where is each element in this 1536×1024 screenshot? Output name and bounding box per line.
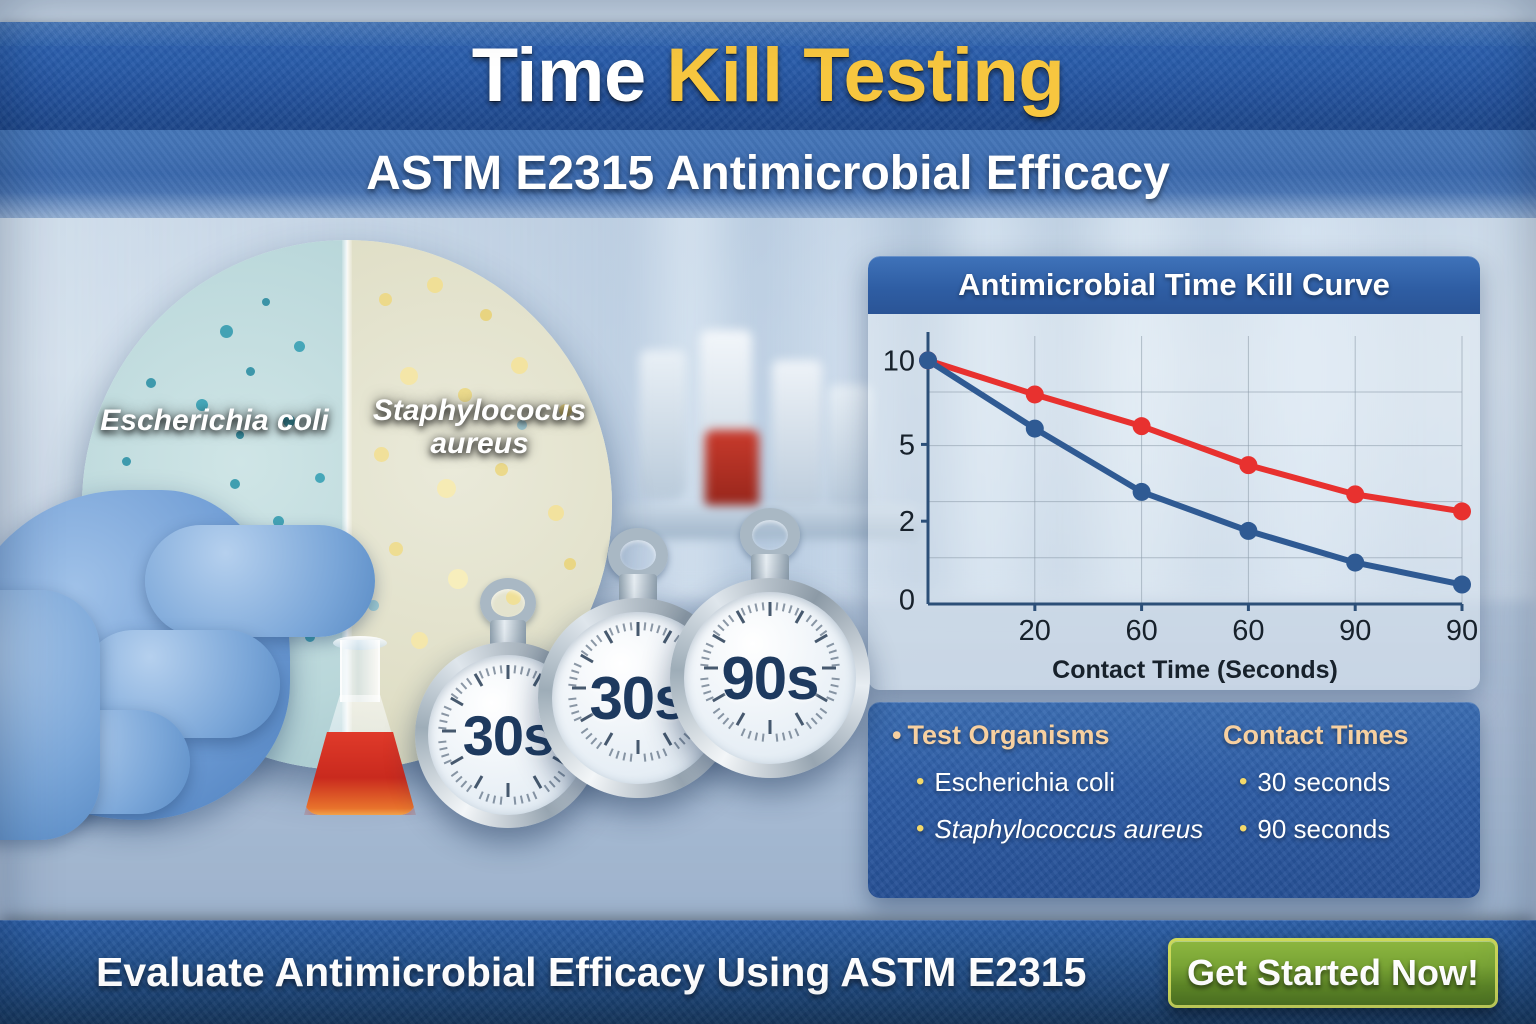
svg-text:60: 60 — [1125, 615, 1157, 647]
stopwatch-3-ring: 90s — [670, 578, 870, 778]
petri-label-ecoli: Escherichia coli — [93, 404, 337, 438]
title-band: Time Kill Testing — [0, 22, 1536, 130]
svg-text:60: 60 — [1232, 615, 1264, 647]
info-item-organism-ecoli: • Escherichia coli — [890, 767, 1205, 798]
info-column-test-organisms: •Test Organisms • Escherichia coli • Sta… — [890, 720, 1205, 888]
svg-text:2: 2 — [899, 506, 915, 538]
bullet-icon: • — [1239, 767, 1247, 797]
info-panel: •Test Organisms • Escherichia coli • Sta… — [868, 702, 1480, 898]
svg-text:20: 20 — [1019, 615, 1051, 647]
svg-text:10: 10 — [883, 345, 915, 377]
page-title-white: Time — [472, 33, 667, 118]
svg-text:0: 0 — [899, 585, 915, 617]
bullet-icon: • — [892, 720, 901, 750]
petri-label-staph: Staphylococus aureus — [358, 394, 602, 461]
get-started-button[interactable]: Get Started Now! — [1168, 938, 1498, 1008]
flask-liquid — [304, 732, 416, 815]
stopwatch-3: 90s — [660, 508, 880, 773]
info-item-contact-90s: • 90 seconds — [1205, 814, 1460, 845]
chart-body: 105202060609090Contact Time (Seconds) — [868, 314, 1480, 690]
subtitle-band: ASTM E2315 Antimicrobial Efficacy — [0, 130, 1536, 218]
time-kill-curve-chart: 105202060609090Contact Time (Seconds) — [868, 314, 1480, 690]
page-title: Time Kill Testing — [0, 22, 1536, 130]
page-subtitle: ASTM E2315 Antimicrobial Efficacy — [0, 130, 1536, 218]
svg-text:Contact Time (Seconds): Contact Time (Seconds) — [1052, 656, 1338, 684]
bullet-icon: • — [916, 767, 924, 797]
info-item-contact-30s: • 30 seconds — [1205, 767, 1460, 798]
info-heading-contact-times: Contact Times — [1205, 720, 1460, 751]
background-bottle-3 — [772, 360, 822, 510]
stopwatch-3-label: 90s — [721, 644, 818, 713]
bullet-icon: • — [1239, 814, 1247, 844]
bullet-icon: • — [916, 814, 924, 844]
info-heading-test-organisms: •Test Organisms — [890, 720, 1205, 751]
erlenmeyer-flask — [300, 640, 420, 815]
background-bottle-4 — [828, 385, 872, 515]
page-title-yellow: Kill Testing — [666, 33, 1064, 118]
info-column-contact-times: Contact Times • 30 seconds • 90 seconds — [1205, 720, 1460, 888]
chart-panel: Antimicrobial Time Kill Curve 1052020606… — [868, 256, 1480, 690]
flask-neck — [340, 640, 380, 702]
stopwatch-3-face: 90s — [684, 592, 856, 764]
footer-tagline: Evaluate Antimicrobial Efficacy Using AS… — [96, 920, 1086, 1024]
poster-root: Time Kill Testing ASTM E2315 Antimicrobi… — [0, 0, 1536, 1024]
chart-title: Antimicrobial Time Kill Curve — [868, 256, 1480, 314]
info-item-organism-staph: • Staphylococcus aureus — [890, 814, 1205, 845]
chart-panel-header: Antimicrobial Time Kill Curve — [868, 256, 1480, 314]
background-bottle-1 — [640, 350, 686, 500]
get-started-button-label: Get Started Now! — [1187, 952, 1479, 994]
svg-text:90: 90 — [1446, 615, 1478, 647]
svg-text:5: 5 — [899, 429, 915, 461]
footer-bar: Evaluate Antimicrobial Efficacy Using AS… — [0, 920, 1536, 1024]
svg-text:90: 90 — [1339, 615, 1371, 647]
